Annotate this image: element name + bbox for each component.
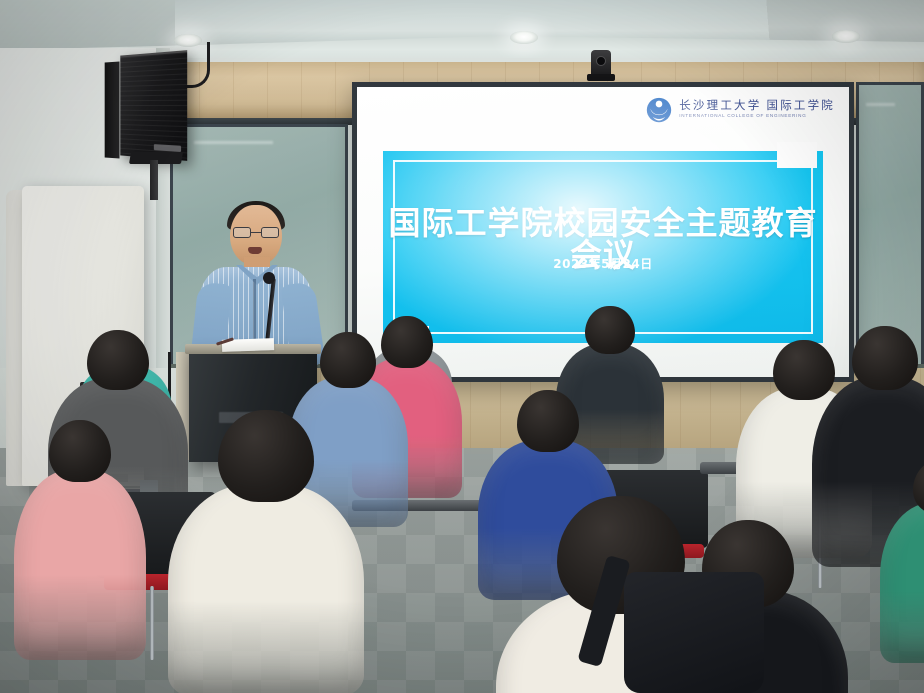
university-emblem-icon xyxy=(646,97,672,123)
projector-lens xyxy=(596,56,606,66)
chair-leg-1 xyxy=(150,586,154,660)
attendee-green-right-torso xyxy=(880,503,924,663)
classroom-photo-scene: 长沙理工大学 国际工学院 INTERNATIONAL COLLEGE OF EN… xyxy=(0,0,924,693)
backpack xyxy=(624,572,764,693)
slide-logo-en: INTERNATIONAL COLLEGE OF ENGINEERING xyxy=(679,114,835,119)
presenter-mouth xyxy=(248,247,262,254)
slide-logo-cn: 长沙理工大学 国际工学院 xyxy=(679,101,835,113)
attendee-blue-mid-head xyxy=(320,332,376,388)
wall-speaker-icon xyxy=(120,50,187,161)
speaker-brand-badge xyxy=(154,144,181,152)
speaker-mount-pole xyxy=(150,160,158,200)
slide-logo: 长沙理工大学 国际工学院 INTERNATIONAL COLLEGE OF EN… xyxy=(646,97,835,123)
glasses-icon xyxy=(233,227,279,238)
attendee-camo-head xyxy=(87,330,149,390)
attendee-pink-left xyxy=(14,420,146,672)
downlight-3 xyxy=(832,30,860,43)
attendee-white-front-head xyxy=(218,410,314,502)
slide-corner-notch-top-right xyxy=(777,142,817,168)
slide-logo-text: 长沙理工大学 国际工学院 INTERNATIONAL COLLEGE OF EN… xyxy=(679,101,835,119)
attendee-dark-back-head xyxy=(585,306,635,354)
attendee-white-front xyxy=(168,410,364,693)
attendee-black-right-head xyxy=(852,326,918,390)
attendee-green-right xyxy=(880,460,924,674)
attendee-pink-left-torso xyxy=(14,470,146,660)
speaker-side-panel xyxy=(105,61,120,158)
slide-date: 2023年5月24日 xyxy=(383,255,823,272)
downlight-2 xyxy=(510,31,538,44)
attendee-navy-blue-head xyxy=(517,390,579,452)
attendee-pink-left-head xyxy=(49,420,111,482)
projector-icon xyxy=(591,50,611,76)
attendee-white-front-torso xyxy=(168,484,364,693)
microphone-icon xyxy=(263,272,275,284)
